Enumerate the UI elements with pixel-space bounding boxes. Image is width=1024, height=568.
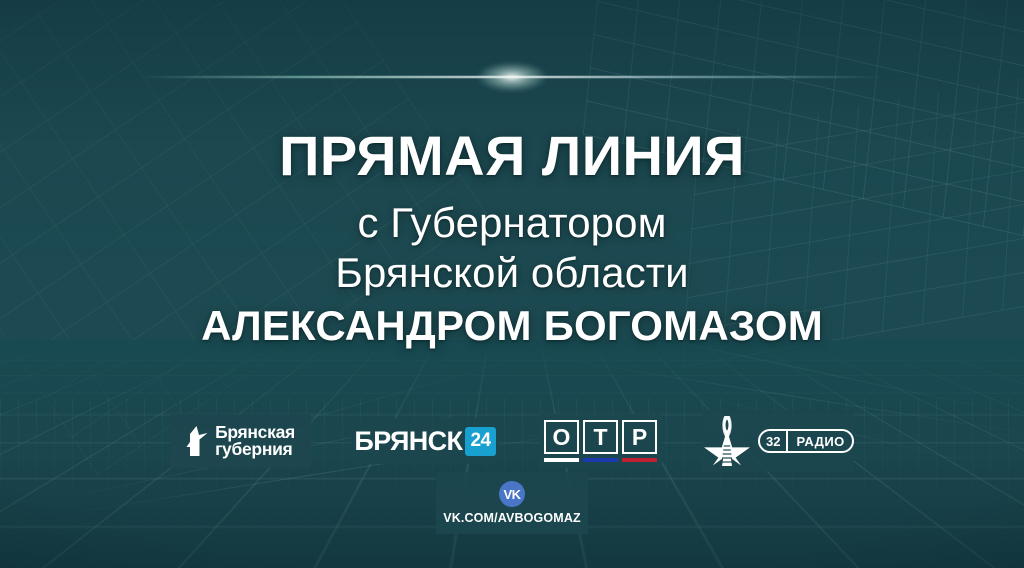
flag-mark-icon bbox=[186, 426, 208, 456]
logo-otr-rule-blue bbox=[583, 458, 618, 462]
logo-otr-letter-o: О bbox=[544, 420, 579, 454]
vk-social-block[interactable]: VK VK.COM/AVBOGOMAZ bbox=[436, 472, 588, 534]
radio-tower-star-icon bbox=[702, 416, 752, 466]
logo-otr-rule-white bbox=[544, 458, 579, 462]
logo-radio-32[interactable]: 32 РАДИО bbox=[702, 410, 854, 472]
logo-bryansk-badge: 24 bbox=[465, 427, 495, 456]
headline-title: ПРЯМАЯ ЛИНИЯ bbox=[0, 127, 1024, 184]
logo-bryansk-24[interactable]: БРЯНСК 24 bbox=[351, 418, 499, 464]
partner-logo-row: Брянская губерния БРЯНСК 24 О Т Р bbox=[0, 410, 1024, 472]
headline-subtitle-1: с Губернатором bbox=[0, 198, 1024, 248]
logo-guberniya-line2: губерния bbox=[215, 441, 295, 458]
logo-otr[interactable]: О Т Р bbox=[539, 414, 662, 468]
headline-name: АЛЕКСАНДРОМ БОГОМАЗОМ bbox=[0, 301, 1024, 351]
logo-otr-letter-cell: Т bbox=[583, 420, 618, 462]
logo-otr-rule-red bbox=[622, 458, 657, 462]
headline-block: ПРЯМАЯ ЛИНИЯ с Губернатором Брянской обл… bbox=[0, 127, 1024, 351]
logo-otr-letter-cell: О bbox=[544, 420, 579, 462]
vk-url-label: VK.COM/AVBOGOMAZ bbox=[443, 511, 581, 525]
poster-stage: ПРЯМАЯ ЛИНИЯ с Губернатором Брянской обл… bbox=[0, 0, 1024, 568]
vk-icon: VK bbox=[499, 481, 525, 507]
headline-subtitle-2: Брянской области bbox=[0, 248, 1024, 298]
logo-radio-number: 32 bbox=[760, 431, 788, 451]
logo-radio-pill: 32 РАДИО bbox=[758, 429, 854, 453]
logo-guberniya-text: Брянская губерния bbox=[215, 424, 295, 458]
vk-icon-glyph: VK bbox=[503, 487, 520, 502]
logo-otr-letter-cell: Р bbox=[622, 420, 657, 462]
logo-otr-letter-r: Р bbox=[622, 420, 657, 454]
logo-otr-letter-t: Т bbox=[583, 420, 618, 454]
logo-bryanskaya-guberniya[interactable]: Брянская губерния bbox=[170, 414, 311, 468]
logo-radio-word: РАДИО bbox=[788, 431, 852, 451]
logo-bryansk-word: БРЯНСК bbox=[354, 426, 462, 457]
